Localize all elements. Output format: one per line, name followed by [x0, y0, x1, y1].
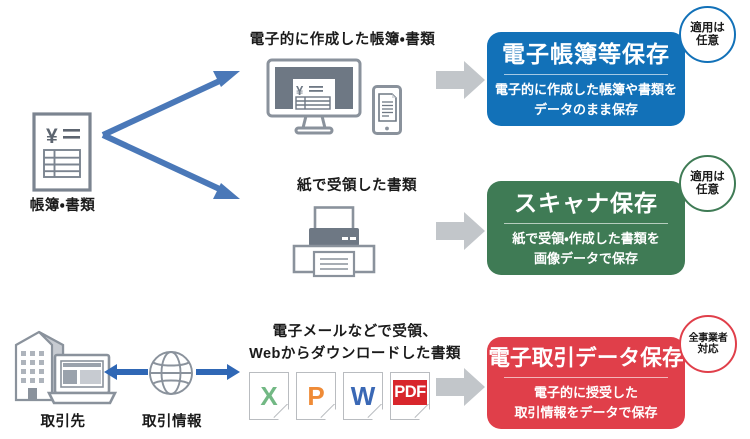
pdf-file-glyph: PDF	[394, 384, 426, 401]
building-laptop-icon	[8, 327, 118, 414]
pdf-fold-line	[414, 404, 429, 419]
row1-gray-arrow	[436, 60, 486, 105]
powerpoint-file-icon: P	[296, 372, 336, 420]
diagram-canvas: ¥ 帳簿・書類 電子的に作成した帳簿・書類	[0, 0, 750, 439]
branch-arrows	[95, 40, 245, 235]
pdf-file-icon: PDF	[390, 372, 430, 420]
row3-caption-line1: 電子メールなどで受領、	[244, 322, 466, 343]
result-desc-2-line2: 画像データで保存	[487, 250, 685, 269]
result-desc-1-line1: 電子的に作成した帳簿や書類を	[487, 81, 685, 100]
info-right-arrow	[196, 362, 240, 387]
partner-label: 取引先	[8, 412, 118, 433]
result-divider-3	[504, 377, 668, 378]
svg-text:¥: ¥	[296, 83, 304, 98]
excel-file-icon: X	[249, 372, 289, 420]
row3-gray-arrow	[436, 367, 486, 412]
badge-row1-line1: 適用は	[690, 22, 725, 35]
source-document-icon: ¥	[31, 112, 93, 197]
result-desc-3-line2: 取引情報をデータで保存	[487, 404, 685, 423]
row2-gray-arrow	[436, 211, 486, 256]
word-file-icon: W	[343, 372, 383, 420]
powerpoint-file-glyph: P	[307, 383, 324, 409]
badge-row2-line2: 任意	[696, 184, 719, 197]
row3-caption-line2: Webからダウンロードした書類	[244, 344, 466, 365]
row2-caption: 紙で受領した書類	[262, 176, 452, 197]
badge-row3: 全事業者 対応	[679, 315, 737, 373]
svg-text:¥: ¥	[46, 125, 58, 148]
result-box-scanner: スキャナ保存 紙で受領・作成した書類を 画像データで保存	[487, 181, 685, 275]
result-desc-1-line2: データのまま保存	[487, 101, 685, 120]
badge-row2-line1: 適用は	[690, 171, 725, 184]
badge-row1: 適用は 任意	[679, 6, 736, 63]
row1-caption: 電子的に作成した帳簿・書類	[235, 30, 450, 51]
info-left-arrow	[104, 362, 148, 387]
printer-icon	[290, 206, 376, 283]
result-title-3: 電子取引データ保存	[487, 345, 685, 372]
result-divider-1	[504, 74, 668, 75]
word-file-glyph: W	[351, 383, 376, 409]
desktop-monitor-icon: ¥	[266, 58, 362, 141]
result-desc-2-line1: 紙で受領・作成した書類を	[487, 230, 685, 249]
result-divider-2	[504, 223, 668, 224]
badge-row2: 適用は 任意	[679, 155, 736, 212]
result-box-denshi-chobo: 電子帳簿等保存 電子的に作成した帳簿や書類を データのまま保存	[487, 32, 685, 126]
globe-icon	[148, 350, 194, 401]
result-desc-3-line1: 電子的に授受した	[487, 384, 685, 403]
result-box-denshi-torihiki: 電子取引データ保存 電子的に授受した 取引情報をデータで保存	[487, 337, 685, 429]
info-label: 取引情報	[124, 412, 220, 433]
pdf-file-badge: PDF	[393, 380, 427, 405]
result-title-2: スキャナ保存	[487, 189, 685, 218]
badge-row1-line2: 任意	[696, 35, 719, 48]
excel-file-glyph: X	[260, 383, 277, 409]
tablet-icon	[372, 85, 402, 140]
badge-row3-line2: 対応	[698, 344, 719, 356]
result-title-1: 電子帳簿等保存	[487, 40, 685, 69]
